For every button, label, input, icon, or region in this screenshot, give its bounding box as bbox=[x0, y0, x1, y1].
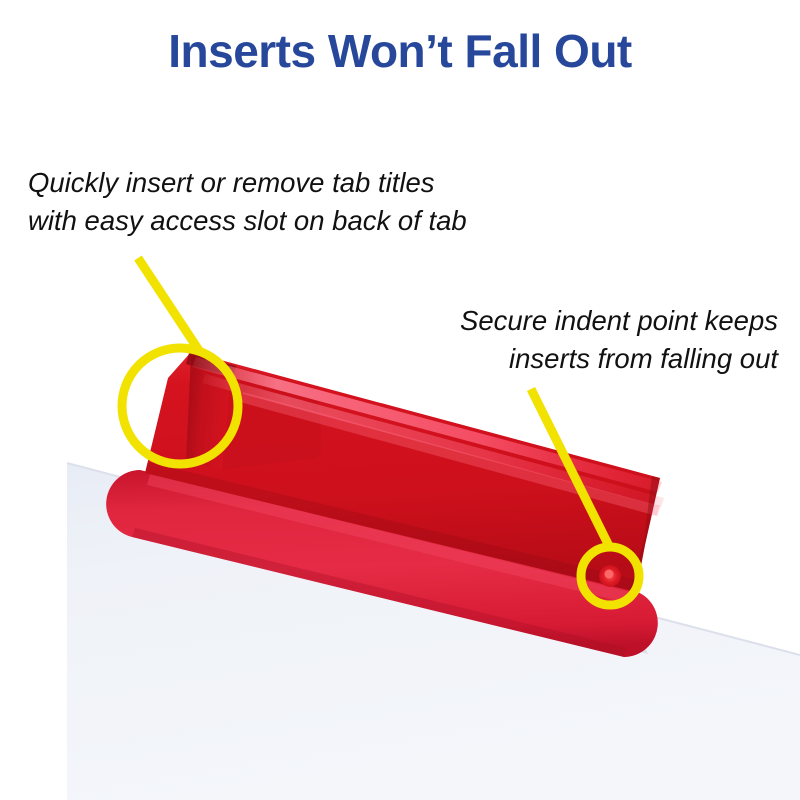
secure-indent-point-callout-text: Secure indent point keeps inserts from f… bbox=[460, 302, 778, 378]
secure-indent-point-callout-line-2: inserts from falling out bbox=[460, 340, 778, 378]
infographic-canvas: Inserts Won’t Fall Out Quickly insert or… bbox=[0, 0, 800, 800]
secure-indent-point-callout-line-1: Secure indent point keeps bbox=[460, 302, 778, 340]
secure-indent-point bbox=[599, 565, 621, 587]
leader-line-left bbox=[138, 258, 200, 352]
easy-access-slot-callout-line-2: with easy access slot on back of tab bbox=[28, 202, 467, 240]
product-illustration bbox=[0, 0, 800, 800]
easy-access-slot-callout-text: Quickly insert or remove tab titles with… bbox=[28, 164, 467, 240]
page-title: Inserts Won’t Fall Out bbox=[0, 24, 800, 78]
easy-access-slot-callout-line-1: Quickly insert or remove tab titles bbox=[28, 164, 467, 202]
